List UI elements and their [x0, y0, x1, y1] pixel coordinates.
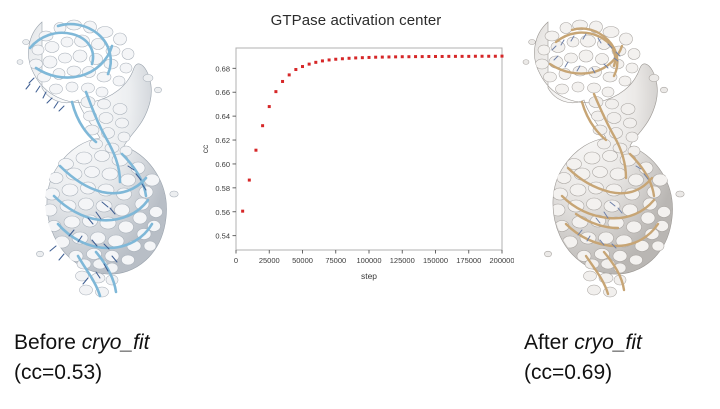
after-caption-cc-value: (cc=0.69) [524, 358, 642, 388]
data-point [348, 57, 351, 60]
data-point [441, 55, 444, 58]
scatter-plot-svg: 0.540.560.580.600.620.640.660.6802500050… [198, 38, 514, 302]
after-caption-prefix: After [524, 331, 574, 354]
svg-text:175000: 175000 [456, 256, 481, 265]
svg-text:0: 0 [234, 256, 238, 265]
after-caption-line1: After cryo_fit [524, 328, 642, 358]
before-caption-line1: Before cryo_fit [14, 328, 149, 358]
after-structure-panel [512, 6, 720, 316]
data-point [401, 55, 404, 58]
data-point [314, 61, 317, 64]
data-point [414, 55, 417, 58]
before-caption-program: cryo_fit [82, 331, 150, 354]
data-point [421, 55, 424, 58]
after-caption-program: cryo_fit [574, 331, 642, 354]
svg-text:50000: 50000 [292, 256, 313, 265]
before-caption-prefix: Before [14, 331, 82, 354]
data-point [308, 63, 311, 66]
svg-text:200000: 200000 [489, 256, 514, 265]
svg-text:0.54: 0.54 [215, 232, 230, 241]
data-point [474, 55, 477, 58]
cryo-em-map-before-image [0, 6, 210, 316]
chart-title: GTPase activation center [198, 12, 514, 29]
cryo-em-map-after-image [512, 6, 720, 316]
svg-text:0.66: 0.66 [215, 88, 230, 97]
svg-text:150000: 150000 [423, 256, 448, 265]
plot-frame [236, 48, 502, 250]
before-structure-panel [0, 6, 210, 316]
data-point [374, 56, 377, 59]
data-point [387, 55, 390, 58]
data-point [361, 56, 364, 59]
data-point [427, 55, 430, 58]
y-axis-ticks: 0.540.560.580.600.620.640.660.68 [215, 64, 236, 240]
data-point [381, 56, 384, 59]
x-axis-label: step [361, 271, 377, 281]
data-point [254, 149, 257, 152]
data-point [467, 55, 470, 58]
svg-text:75000: 75000 [325, 256, 346, 265]
data-point [501, 55, 504, 58]
data-point [494, 55, 497, 58]
data-point [288, 73, 291, 76]
cc-vs-step-chart-panel: GTPase activation center 0.540.560.580.6… [198, 12, 514, 302]
data-point [461, 55, 464, 58]
before-caption-cc-value: (cc=0.53) [14, 358, 149, 388]
data-point [294, 68, 297, 71]
data-point [281, 80, 284, 83]
data-point [261, 124, 264, 127]
data-point [354, 56, 357, 59]
data-point [301, 65, 304, 68]
svg-text:0.58: 0.58 [215, 184, 230, 193]
density-blobs-top [30, 20, 135, 97]
data-point [447, 55, 450, 58]
svg-text:0.62: 0.62 [215, 136, 230, 145]
data-point [487, 55, 490, 58]
y-axis-label: cc [200, 144, 210, 153]
data-points [241, 55, 503, 213]
x-axis-ticks: 0250005000075000100000125000150000175000… [234, 250, 514, 265]
data-point [248, 179, 251, 182]
data-point [407, 55, 410, 58]
data-point [394, 55, 397, 58]
data-point [268, 105, 271, 108]
before-caption: Before cryo_fit (cc=0.53) [14, 328, 149, 388]
data-point [341, 57, 344, 60]
data-point [321, 59, 324, 62]
data-point [481, 55, 484, 58]
svg-text:0.56: 0.56 [215, 208, 230, 217]
data-point [328, 58, 331, 61]
data-point [434, 55, 437, 58]
svg-text:0.64: 0.64 [215, 112, 230, 121]
svg-text:0.60: 0.60 [215, 160, 230, 169]
svg-text:0.68: 0.68 [215, 64, 230, 73]
data-point [368, 56, 371, 59]
density-blobs-top [536, 20, 641, 97]
svg-text:125000: 125000 [390, 256, 415, 265]
data-point [334, 58, 337, 61]
after-caption: After cryo_fit (cc=0.69) [524, 328, 642, 388]
svg-text:100000: 100000 [356, 256, 381, 265]
data-point [454, 55, 457, 58]
plot-area: 0.540.560.580.600.620.640.660.6802500050… [198, 38, 514, 302]
data-point [274, 90, 277, 93]
data-point [241, 210, 244, 213]
svg-text:25000: 25000 [259, 256, 280, 265]
